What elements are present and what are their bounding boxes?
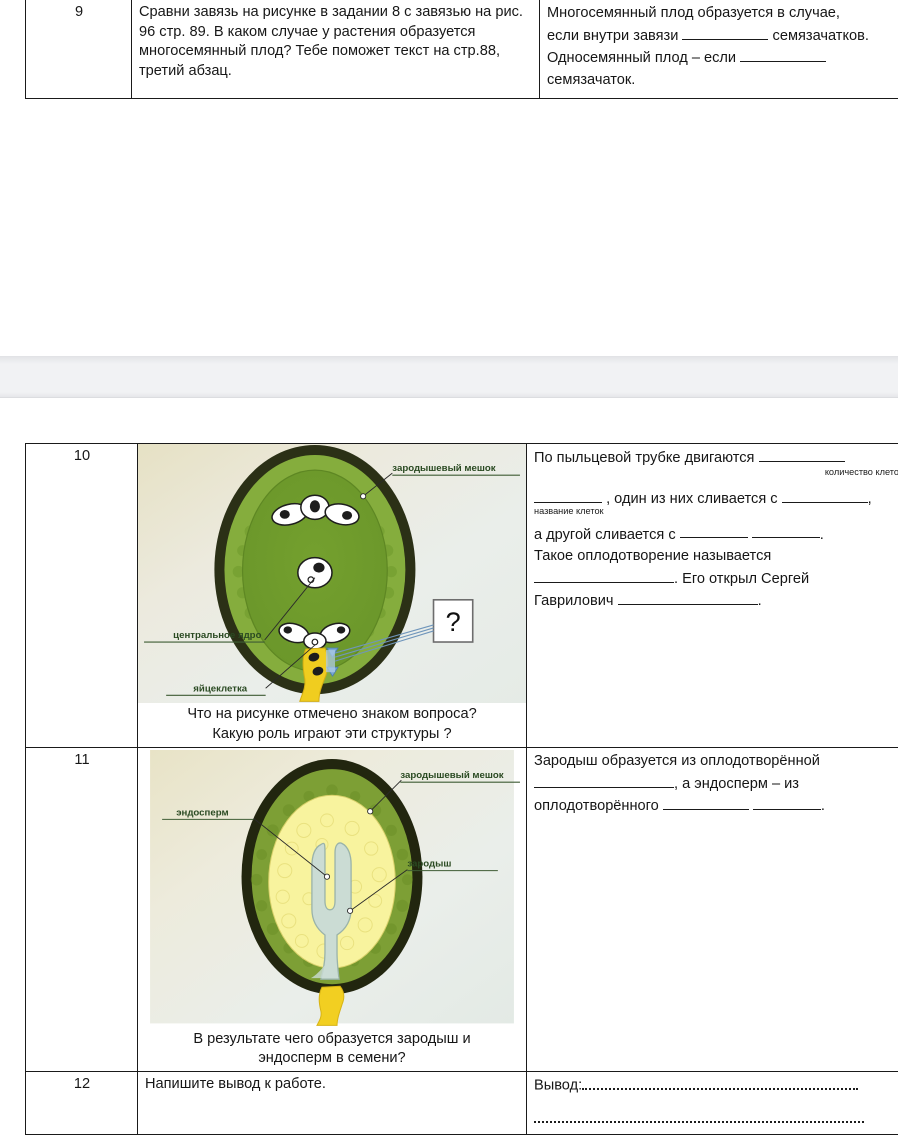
answer-line-2-prefix: если внутри завязи	[547, 28, 678, 44]
caption-line-2: Какую роль играют эти структуры ?	[142, 725, 522, 744]
blank-field[interactable]	[682, 25, 768, 40]
task-cell-9: Сравни завязь на рисунке в задании 8 с з…	[132, 0, 540, 99]
conclusion-line-2	[534, 1109, 898, 1130]
answer-line-2: , а эндосперм – из	[534, 773, 898, 795]
answer-line-3: Односемянный плод – если	[547, 47, 898, 69]
row-number-9: 9	[26, 0, 132, 99]
answer-line-2-text: , а эндосперм – из	[674, 776, 799, 792]
answer-line-3-prefix: Односемянный плод – если	[547, 50, 736, 66]
embryo-sac-diagram: ? зародышевый мешок центральное ядро яйц…	[138, 444, 526, 703]
seed-figure-wrap: зародышевый мешок эндосперм зародыш В ре…	[138, 748, 526, 1071]
caption-line-1: В результате чего образуется зародыш и	[142, 1030, 522, 1049]
blank-field[interactable]	[534, 488, 602, 503]
blank-field[interactable]	[782, 488, 868, 503]
caption-line-2: эндосперм в семени?	[142, 1049, 522, 1068]
row-number-value: 12	[74, 1076, 90, 1092]
answer-line-4: семязачаток.	[547, 70, 898, 91]
answer-line-3: а другой сливается с .	[534, 524, 898, 546]
caption-line-1: Что на рисунке отмечено знаком вопроса?	[142, 705, 522, 724]
conclusion-line-1: Вывод:	[534, 1075, 898, 1096]
table-row: 10	[26, 444, 898, 748]
answer-cell-9: Многосемянный плод образуется в случае, …	[540, 0, 898, 99]
table-row: 9 Сравни завязь на рисунке в задании 8 с…	[26, 0, 898, 99]
answer-line-1-text: По пыльцевой трубке двигаются	[534, 450, 754, 466]
answer-line-6-end: .	[758, 593, 762, 609]
blank-field[interactable]	[663, 795, 749, 810]
row-number-value: 11	[74, 752, 89, 768]
answer-line-3-end: .	[821, 798, 825, 814]
task-cell-12: Напишите вывод к работе.	[138, 1072, 527, 1134]
answer-line-1: Многосемянный плод образуется в случае,	[547, 3, 898, 24]
page-separator-bottom-shade	[0, 392, 898, 397]
answer-line-2-suffix: семязачатков.	[773, 28, 869, 44]
answer-line-5: . Его открыл Сергей	[534, 568, 898, 590]
dotted-write-line[interactable]	[582, 1075, 858, 1089]
answer-line-6: Гаврилович .	[534, 590, 898, 612]
figure-caption-11: В результате чего образуется зародыш и э…	[138, 1028, 526, 1072]
answer-line-3: оплодотворённого .	[534, 795, 898, 817]
figure-cell-11: зародышевый мешок эндосперм зародыш В ре…	[138, 748, 527, 1072]
answer-fill-9: Многосемянный плод образуется в случае, …	[547, 3, 898, 91]
answer-line-1: По пыльцевой трубке двигаются	[534, 447, 898, 469]
figure-label-embryo-sac: зародышевый мешок	[392, 463, 495, 474]
answer-fill-11: Зародыш образуется из оплодотворённой , …	[534, 751, 898, 817]
blank-field[interactable]	[759, 447, 845, 462]
answer-line-3-text: а другой сливается с	[534, 526, 676, 542]
answer-cell-12: Вывод:	[527, 1072, 898, 1134]
blank-field[interactable]	[680, 524, 748, 539]
answer-line-3-end: .	[820, 526, 824, 542]
figure-label-embryo-sac: зародышевый мешок	[400, 770, 503, 781]
answer-line-2: если внутри завязи семязачатков.	[547, 25, 898, 47]
row-number-12-cell: 12	[26, 1072, 138, 1134]
answer-line-2-text: , один из них сливается с	[606, 491, 778, 507]
answer-line-1: Зародыш образуется из оплодотворённой	[534, 751, 898, 772]
worksheet-table-bottom: 10	[25, 443, 898, 1135]
table-row: 11	[26, 748, 898, 1072]
figure-label-embryo: зародыш	[407, 859, 451, 870]
table-row: 12 Напишите вывод к работе. Вывод:	[26, 1072, 898, 1134]
hint-count-of-cells: количество клеток	[534, 468, 898, 477]
answer-cell-11: Зародыш образуется из оплодотворённой , …	[527, 748, 898, 1072]
figure-label-central-nucleus: центральное ядро	[173, 630, 261, 641]
figure-cell-10: ? зародышевый мешок центральное ядро яйц…	[138, 444, 527, 748]
blank-field[interactable]	[618, 590, 758, 605]
blank-field[interactable]	[753, 795, 821, 810]
worksheet-table-top: 9 Сравни завязь на рисунке в задании 8 с…	[25, 0, 898, 99]
answer-line-5-text: . Его открыл Сергей	[674, 571, 809, 587]
figure-label-endosperm: эндосперм	[176, 807, 228, 818]
answer-fill-10: По пыльцевой трубке двигаются количество…	[534, 447, 898, 612]
dotted-write-line[interactable]	[534, 1109, 864, 1123]
embryo-sac-figure-wrap: ? зародышевый мешок центральное ядро яйц…	[138, 444, 526, 747]
blank-field[interactable]	[534, 568, 674, 583]
blank-field[interactable]	[752, 524, 820, 539]
figure-caption-10: Что на рисунке отмечено знаком вопроса? …	[138, 703, 526, 747]
seed-embryo-endosperm-diagram: зародышевый мешок эндосперм зародыш	[138, 748, 526, 1027]
row-number-10-cell: 10	[26, 444, 138, 748]
question-mark-glyph: ?	[446, 606, 461, 637]
figure-label-egg-cell: яйцеклетка	[193, 683, 247, 694]
task-text-9: Сравни завязь на рисунке в задании 8 с з…	[139, 4, 523, 79]
conclusion-label: Вывод:	[534, 1078, 582, 1094]
row-number-value: 9	[75, 4, 83, 20]
answer-line-4: Такое оплодотворение называется	[534, 546, 898, 567]
task-text-12: Напишите вывод к работе.	[145, 1076, 326, 1092]
page-separator-top-shade	[0, 357, 898, 364]
row-number-11-cell: 11	[26, 748, 138, 1072]
answer-fill-12: Вывод:	[534, 1075, 898, 1129]
answer-line-6-text: Гаврилович	[534, 593, 614, 609]
answer-cell-10: По пыльцевой трубке двигаются количество…	[527, 444, 898, 748]
blank-field[interactable]	[534, 773, 674, 788]
page-separator-band	[0, 356, 898, 398]
answer-line-2-end: ,	[868, 491, 872, 507]
answer-line-3-text: оплодотворённого	[534, 798, 659, 814]
row-number-value: 10	[74, 448, 90, 464]
blank-field[interactable]	[740, 47, 826, 62]
